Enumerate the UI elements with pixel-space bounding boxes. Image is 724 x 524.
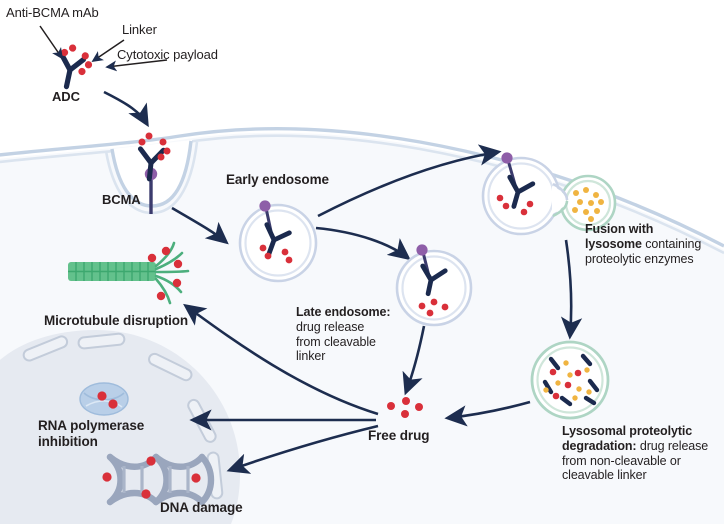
arrow-adc-to-membrane (104, 92, 147, 124)
label-adc: ADC (52, 89, 80, 104)
label-late-endosome-rest: drug release from cleavable linker (296, 320, 376, 364)
label-cytotoxic-payload: Cytotoxic payload (117, 47, 218, 62)
label-anti-bcma-mab: Anti-BCMA mAb (6, 5, 99, 20)
adc-molecule (54, 42, 95, 91)
label-late-endosome: Late endosome:drug release from cleavabl… (296, 305, 411, 364)
rna-polymerase (80, 383, 128, 415)
label-bcma: BCMA (102, 192, 141, 207)
label-free-drug: Free drug (368, 428, 429, 444)
label-fusion-with-lysosome: Fusion with lysosome containing proteoly… (585, 222, 724, 266)
label-early-endosome: Early endosome (226, 172, 329, 188)
label-dna-damage: DNA damage (160, 500, 243, 516)
lysosome-degradation (532, 342, 608, 418)
label-linker: Linker (122, 22, 157, 37)
label-microtubule-disruption: Microtubule disruption (44, 313, 188, 329)
label-lysosomal-degradation: Lysosomal proteolytic degradation: drug … (562, 424, 722, 483)
adc-mechanism-diagram: Anti-BCMA mAb Linker Cytotoxic payload A… (0, 0, 724, 524)
label-late-endosome-head: Late endosome: (296, 305, 390, 319)
label-rna-polymerase-inhibition: RNA polymerase inhibition (38, 418, 144, 450)
